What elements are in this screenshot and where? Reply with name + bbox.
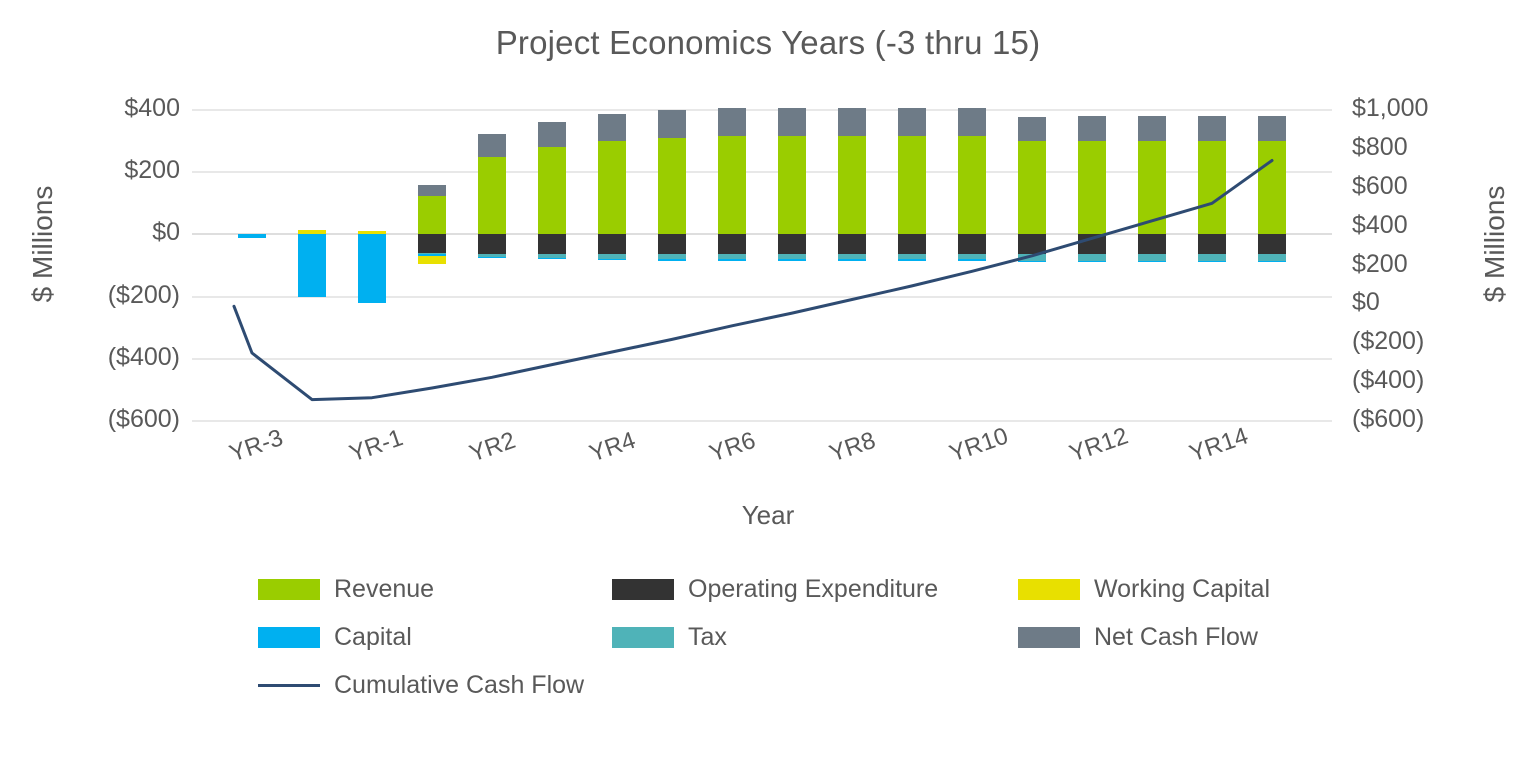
chart-title: Project Economics Years (-3 thru 15) [0, 24, 1536, 62]
legend-label: Operating Expenditure [688, 575, 938, 604]
x-tick-label: YR8 [826, 427, 879, 469]
legend-color-swatch [1018, 627, 1080, 648]
y-tick-label-left: ($600) [60, 405, 180, 434]
legend-item-working-capital[interactable]: Working Capital [1018, 575, 1270, 604]
legend-label: Cumulative Cash Flow [334, 671, 584, 700]
chart-legend: RevenueOperating ExpenditureWorking Capi… [0, 575, 1536, 719]
y-tick-label-left: ($200) [60, 281, 180, 310]
y-tick-label-right: $0 [1352, 288, 1482, 317]
legend-label: Working Capital [1094, 575, 1270, 604]
y-tick-label-right: $800 [1352, 133, 1482, 162]
y-tick-label-left: $200 [60, 156, 180, 185]
legend-label: Capital [334, 623, 412, 652]
chart-container: Project Economics Years (-3 thru 15) $ M… [0, 0, 1536, 760]
x-tick-label: YR6 [706, 427, 759, 469]
y-tick-label-right: ($400) [1352, 366, 1482, 395]
legend-item-operating-expenditure[interactable]: Operating Expenditure [612, 575, 938, 604]
legend-item-net-cash-flow[interactable]: Net Cash Flow [1018, 623, 1258, 652]
x-tick-label: YR10 [946, 422, 1012, 468]
x-tick-label: YR14 [1186, 422, 1252, 468]
y-tick-label-right: ($200) [1352, 327, 1482, 356]
legend-label: Net Cash Flow [1094, 623, 1258, 652]
y-axis-title-right: $ Millions [1479, 149, 1511, 339]
y-tick-label-right: ($600) [1352, 405, 1482, 434]
x-tick-label: YR4 [586, 427, 639, 469]
x-tick-label: YR12 [1066, 422, 1132, 468]
legend-color-swatch [258, 579, 320, 600]
legend-color-swatch [1018, 579, 1080, 600]
legend-item-revenue[interactable]: Revenue [258, 575, 434, 604]
x-tick-label: YR2 [466, 427, 519, 469]
legend-item-capital[interactable]: Capital [258, 623, 412, 652]
y-tick-label-left: ($400) [60, 343, 180, 372]
plot-area [192, 110, 1332, 421]
legend-line-marker [258, 684, 320, 687]
y-tick-label-left: $400 [60, 94, 180, 123]
legend-label: Tax [688, 623, 727, 652]
cumulative-cash-flow-line [192, 110, 1332, 421]
x-tick-label: YR-1 [346, 424, 407, 468]
x-tick-label: YR-3 [226, 424, 287, 468]
legend-row: CapitalTaxNet Cash Flow [0, 623, 1536, 671]
legend-item-cumulative-cash-flow[interactable]: Cumulative Cash Flow [258, 671, 584, 700]
y-axis-title-left: $ Millions [27, 149, 59, 339]
y-tick-label-right: $400 [1352, 211, 1482, 240]
legend-color-swatch [612, 579, 674, 600]
legend-label: Revenue [334, 575, 434, 604]
legend-row: Cumulative Cash Flow [0, 671, 1536, 719]
legend-row: RevenueOperating ExpenditureWorking Capi… [0, 575, 1536, 623]
legend-item-tax[interactable]: Tax [612, 623, 727, 652]
y-tick-label-left: $0 [60, 218, 180, 247]
legend-color-swatch [612, 627, 674, 648]
x-axis-title: Year [0, 500, 1536, 531]
y-tick-label-right: $1,000 [1352, 94, 1482, 123]
y-tick-label-right: $200 [1352, 250, 1482, 279]
legend-color-swatch [258, 627, 320, 648]
y-tick-label-right: $600 [1352, 172, 1482, 201]
